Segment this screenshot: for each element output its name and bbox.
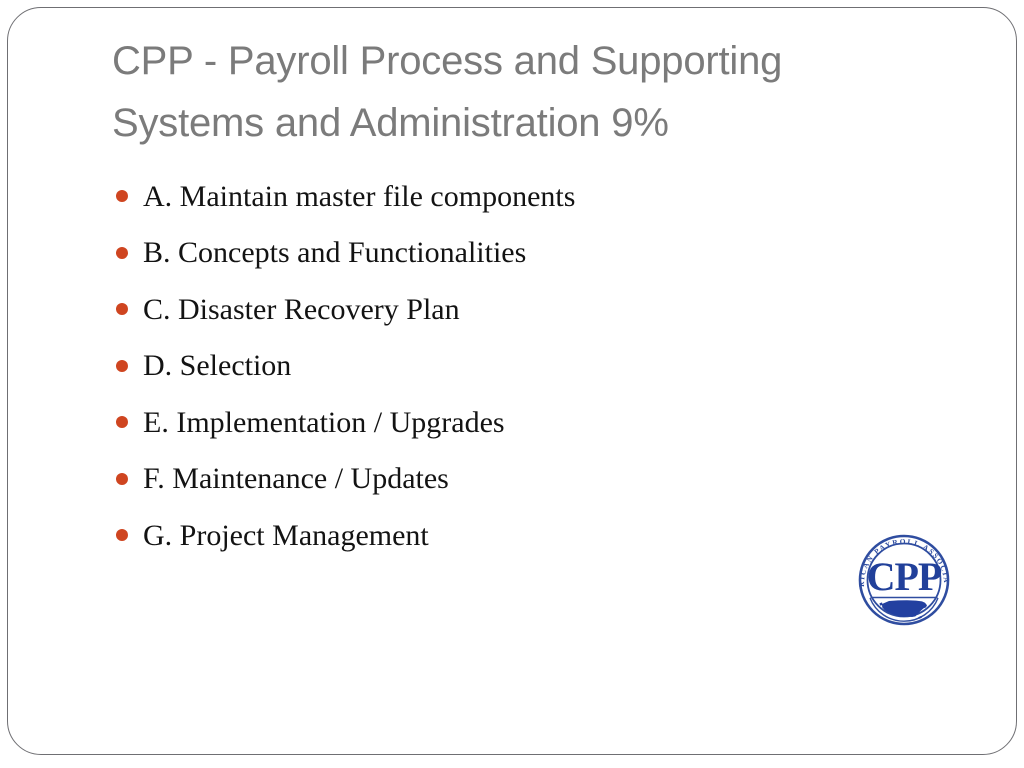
list-item: F. Maintenance / Updates [112, 451, 912, 508]
slide: CPP - Payroll Process and Supporting Sys… [0, 0, 1024, 768]
list-item-label: D. Selection [143, 349, 291, 382]
bullet-dot-icon [116, 416, 128, 428]
page-title-line-1: CPP - Payroll Process and Supporting [112, 30, 932, 92]
list-item-label: G. Project Management [143, 519, 429, 552]
list-item-label: F. Maintenance / Updates [143, 462, 449, 495]
list-item: E. Implementation / Upgrades [112, 394, 912, 451]
list-item: G. Project Management [112, 507, 912, 564]
list-item-label: B. Concepts and Functionalities [143, 236, 526, 269]
bullet-dot-icon [116, 190, 128, 202]
cpp-seal-logo: AMERICAN PAYROLL ASSOCIATION CPP [846, 528, 962, 632]
bullet-dot-icon [116, 360, 128, 372]
bullet-dot-icon [116, 247, 128, 259]
bullet-dot-icon [116, 473, 128, 485]
content-bullet-list: A. Maintain master file components B. Co… [112, 168, 912, 564]
list-item-label: C. Disaster Recovery Plan [143, 293, 460, 326]
list-item: A. Maintain master file components [112, 168, 912, 225]
list-item: B. Concepts and Functionalities [112, 225, 912, 282]
list-item: C. Disaster Recovery Plan [112, 281, 912, 338]
page-title-line-2: Systems and Administration 9% [112, 92, 932, 154]
list-item: D. Selection [112, 338, 912, 395]
list-item-label: E. Implementation / Upgrades [143, 406, 505, 439]
bullet-dot-icon [116, 529, 128, 541]
bullet-dot-icon [116, 303, 128, 315]
list-item-label: A. Maintain master file components [143, 180, 575, 213]
page-title: CPP - Payroll Process and Supporting Sys… [112, 30, 932, 154]
seal-center-text: CPP [867, 554, 942, 599]
